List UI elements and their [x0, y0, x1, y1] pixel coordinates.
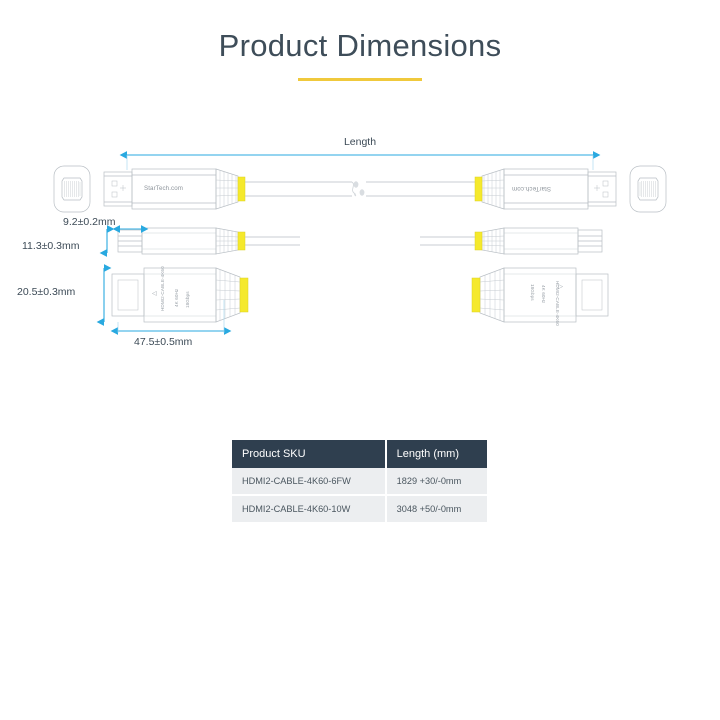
column-header-length: Length (mm) [386, 440, 487, 468]
connector-brand-left: StarTech.com [144, 185, 183, 192]
table-row: HDMI2-CABLE-4K60-6FW 1829 +30/-0mm [232, 468, 487, 495]
hdmi-port-endview-left [54, 166, 90, 212]
dimension-label-connector-depth: 47.5±0.5mm [134, 336, 192, 348]
cell-product-sku: HDMI2-CABLE-4K60-6FW [232, 468, 386, 495]
title-accent-rule [298, 78, 422, 81]
connector-top-view-left [118, 228, 300, 254]
connector-sku-mark-left: HDMI2-CABLE-4K60 [160, 266, 165, 311]
table-header-row: Product SKU Length (mm) [232, 440, 487, 468]
product-sku-length-table: Product SKU Length (mm) HDMI2-CABLE-4K60… [232, 440, 487, 522]
hdmi-port-endview-right [630, 166, 666, 212]
dimension-label-length: Length [0, 136, 720, 148]
connector-arrow-mark-right: ◁ [558, 283, 563, 290]
dimension-label-connector-width: 9.2±0.2mm [63, 216, 115, 228]
dimension-label-connector-height-top: 11.3±0.3mm [22, 240, 80, 252]
connector-side-view-left [112, 268, 248, 322]
connector-spec-18gbps-left: 18Gbps [185, 291, 190, 308]
title-block: Product Dimensions [0, 26, 720, 81]
connector-spec-4k60hz-left: 4K 60Hz [174, 289, 179, 307]
connector-top-view-right [420, 228, 602, 254]
connector-spec-4k60hz-right: 4K 60Hz [541, 285, 546, 303]
connector-brand-right: StarTech.com [512, 185, 551, 192]
cell-length: 3048 +50/-0mm [386, 495, 487, 522]
connector-spec-18gbps-right: 18Gbps [530, 284, 535, 301]
column-header-product-sku: Product SKU [232, 440, 386, 468]
cell-length: 1829 +30/-0mm [386, 468, 487, 495]
dimension-label-connector-height-side: 20.5±0.3mm [17, 286, 75, 298]
product-dimensions-diagram [0, 0, 720, 720]
table-row: HDMI2-CABLE-4K60-10W 3048 +50/-0mm [232, 495, 487, 522]
cell-product-sku: HDMI2-CABLE-4K60-10W [232, 495, 386, 522]
cable-break-mark [352, 181, 364, 196]
connector-side-view-right [472, 268, 608, 322]
page-title: Product Dimensions [0, 26, 720, 66]
connector-arrow-mark-left: ◁ [152, 290, 157, 297]
